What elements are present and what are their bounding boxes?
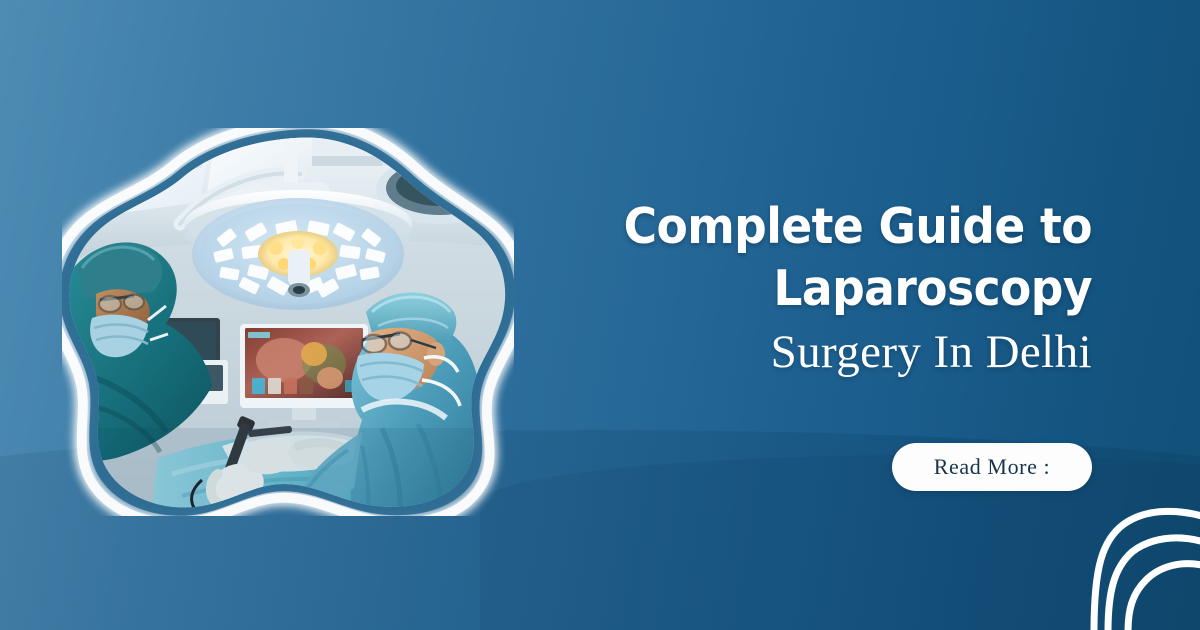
read-more-button[interactable]: Read More : xyxy=(892,443,1092,491)
surgery-image-frame xyxy=(62,128,514,516)
blob-frame-svg xyxy=(62,128,514,516)
subtitle: Surgery In Delhi xyxy=(540,324,1092,380)
headline-line-2: Laparoscopy xyxy=(579,258,1092,320)
headline-block: Complete Guide to Laparoscopy Surgery In… xyxy=(540,196,1092,380)
promo-banner: Complete Guide to Laparoscopy Surgery In… xyxy=(0,0,1200,630)
decor-line-1 xyxy=(1094,511,1200,630)
corner-decor-lines xyxy=(1040,480,1200,630)
headline-line-1: Complete Guide to xyxy=(579,196,1092,258)
page-title: Complete Guide to Laparoscopy xyxy=(579,196,1092,320)
cta-row: Read More : xyxy=(540,443,1092,491)
decor-line-2 xyxy=(1108,538,1200,630)
decor-line-3 xyxy=(1128,564,1200,630)
